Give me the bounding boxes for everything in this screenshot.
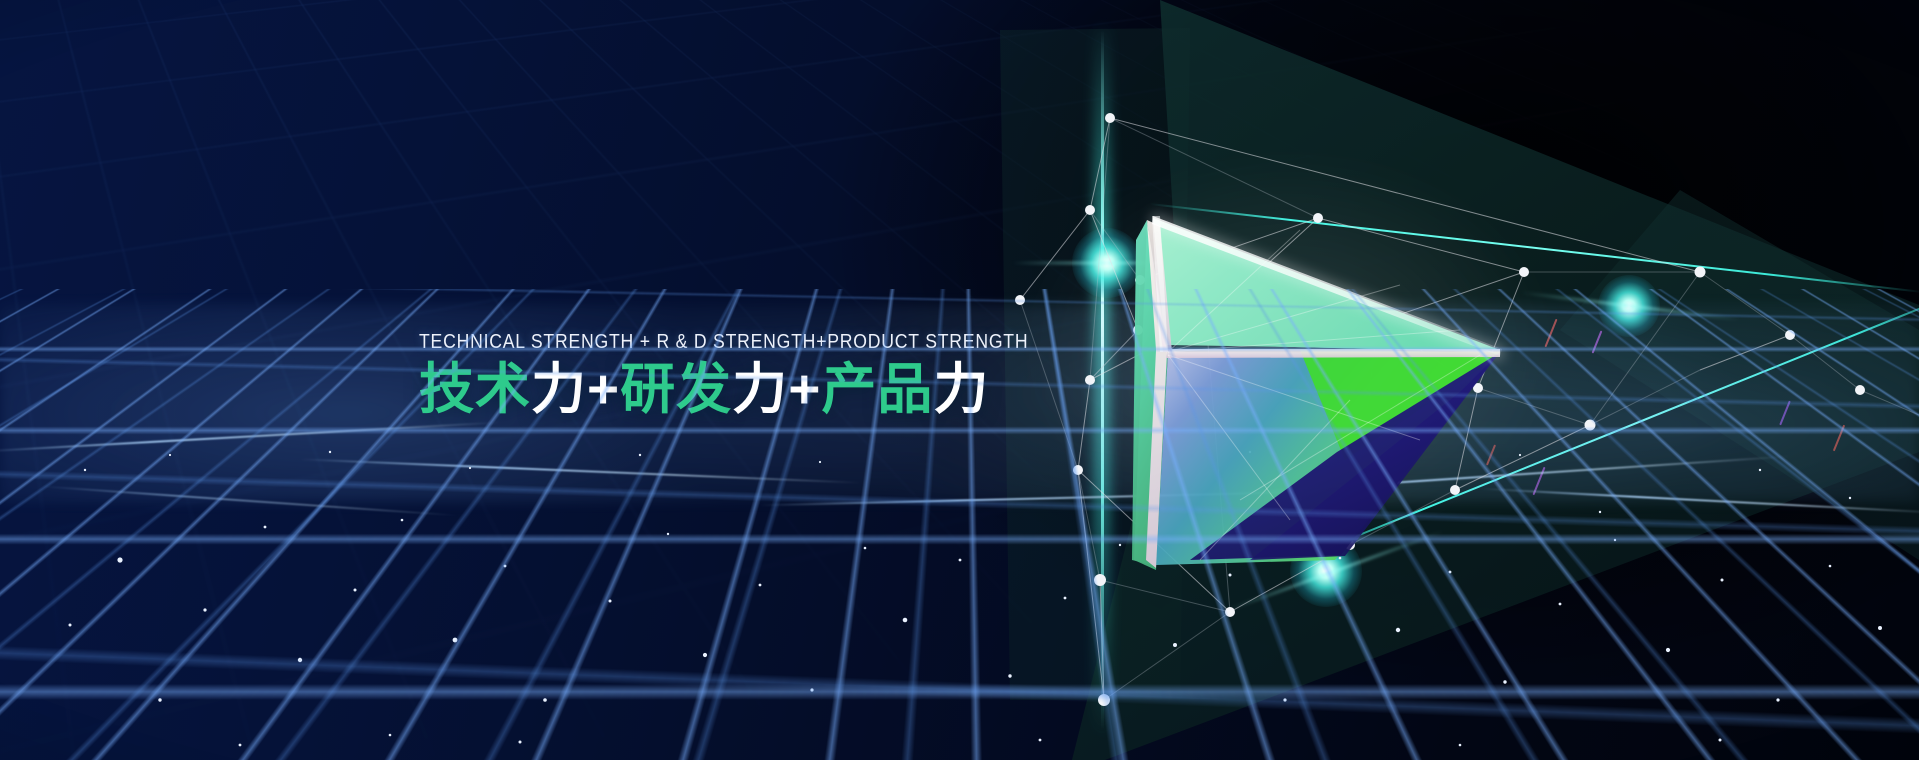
prism-bevel-horizontal — [1166, 349, 1500, 358]
headline-part: 力 — [732, 358, 788, 420]
headline-part: + — [587, 358, 620, 420]
eyebrow-text: TECHNICAL STRENGTH + R & D STRENGTH+PROD… — [419, 330, 1028, 354]
headline-part: 力 — [933, 358, 989, 420]
headline-part: 产品 — [821, 358, 933, 420]
page-title: 技术力+研发力+产品力 — [419, 359, 1128, 421]
headline-part: 技术 — [419, 358, 531, 420]
hero-banner: TECHNICAL STRENGTH + R & D STRENGTH+PROD… — [0, 0, 1919, 760]
headline-part: 研发 — [620, 358, 732, 420]
headline-block: TECHNICAL STRENGTH + R & D STRENGTH+PROD… — [419, 330, 1128, 420]
headline-part: 力 — [531, 358, 587, 420]
headline-part: + — [788, 358, 821, 420]
